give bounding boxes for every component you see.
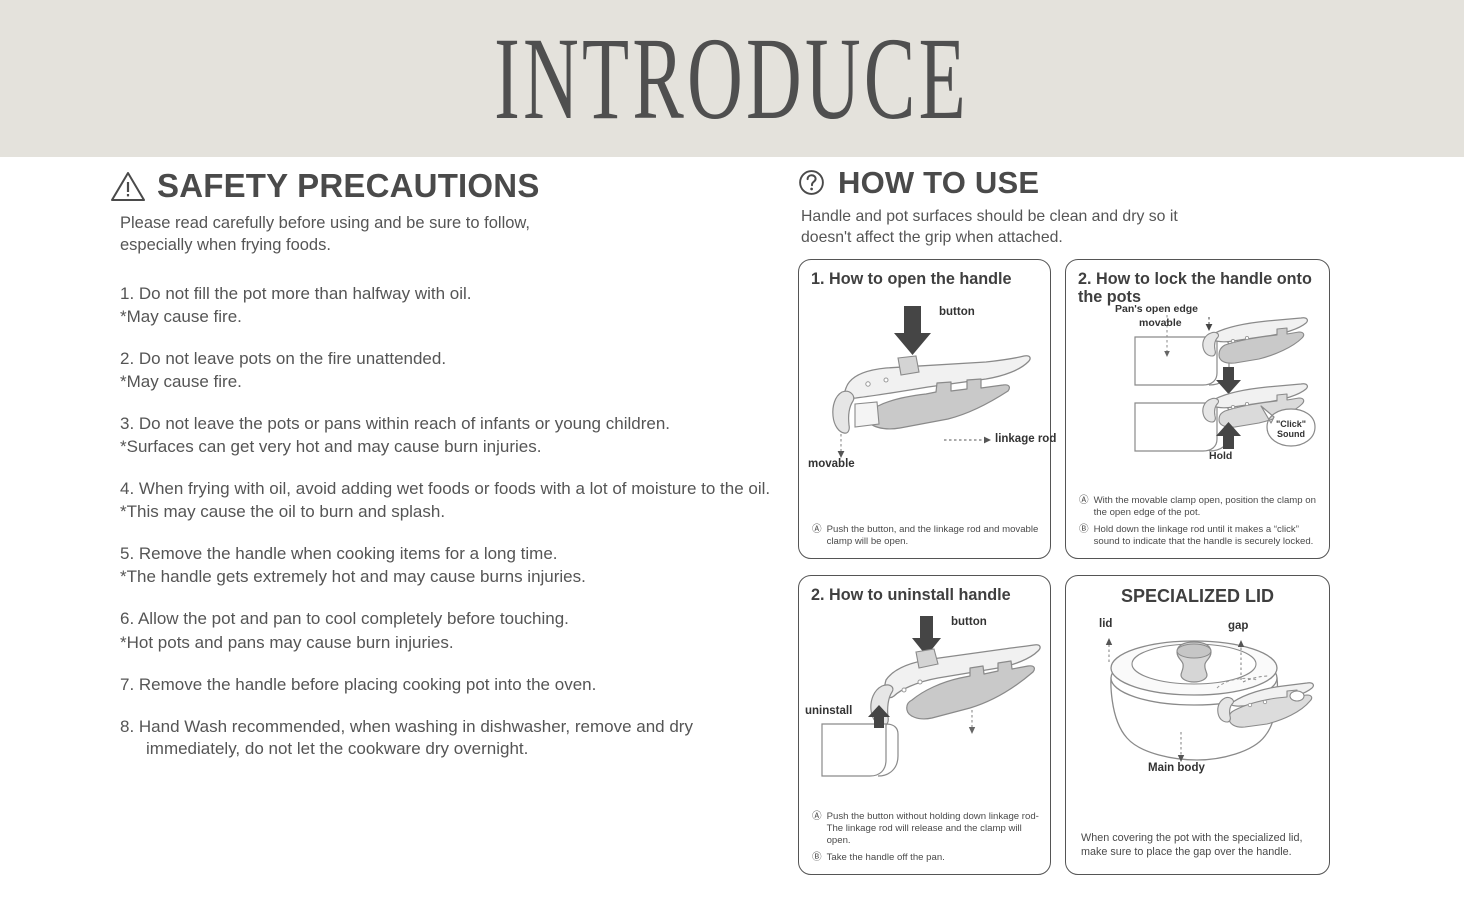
howto-card-grid: 1. How to open the handle bbox=[798, 259, 1464, 875]
howto-intro: Handle and pot surfaces should be clean … bbox=[801, 206, 1464, 249]
specialized-lid-illustration bbox=[1075, 606, 1322, 781]
safety-item-note: *May cause fire. bbox=[120, 371, 790, 393]
card-lock-handle[interactable]: 2. How to lock the handle onto the pots bbox=[1065, 259, 1330, 559]
safety-item: 3. Do not leave the pots or pans within … bbox=[120, 413, 790, 458]
caption-row: Ⓑ Take the handle off the pan. bbox=[812, 852, 1041, 864]
card-open-handle-captions: Ⓐ Push the button, and the linkage rod a… bbox=[812, 524, 1041, 548]
safety-item: 1. Do not fill the pot more than halfway… bbox=[120, 283, 790, 328]
safety-precautions-section: SAFETY PRECAUTIONS Please read carefully… bbox=[0, 157, 790, 900]
caption-row: Ⓑ Hold down the linkage rod until it mak… bbox=[1079, 524, 1320, 548]
card-uninstall-handle-captions: Ⓐ Push the button without holding down l… bbox=[812, 811, 1041, 864]
caption-text: Hold down the linkage rod until it makes… bbox=[1094, 524, 1320, 548]
safety-list: 1. Do not fill the pot more than halfway… bbox=[120, 283, 790, 760]
safety-item-text: 7. Remove the handle before placing cook… bbox=[120, 674, 790, 696]
card-lock-handle-figure: Pan's open edge movable Hold "Click" Sou… bbox=[1075, 307, 1320, 495]
safety-heading-label: SAFETY PRECAUTIONS bbox=[157, 169, 540, 202]
card-open-handle[interactable]: 1. How to open the handle bbox=[798, 259, 1051, 559]
safety-item: 8. Hand Wash recommended, when washing i… bbox=[120, 716, 790, 760]
caption-text: Take the handle off the pan. bbox=[827, 852, 1041, 864]
safety-intro-line1: Please read carefully before using and b… bbox=[120, 214, 530, 232]
caption-text: Push the button, and the linkage rod and… bbox=[827, 524, 1041, 548]
safety-item: 2. Do not leave pots on the fire unatten… bbox=[120, 348, 790, 393]
label-main-body: Main body bbox=[1148, 762, 1205, 774]
card-lock-handle-captions: Ⓐ With the movable clamp open, position … bbox=[1079, 495, 1320, 548]
card-uninstall-handle-title: 2. How to uninstall handle bbox=[811, 586, 1041, 605]
question-circle-icon bbox=[798, 169, 825, 196]
safety-item-note: *Hot pots and pans may cause burn injuri… bbox=[120, 632, 790, 654]
safety-item-text: 1. Do not fill the pot more than halfway… bbox=[120, 283, 790, 305]
safety-item-note: *Surfaces can get very hot and may cause… bbox=[120, 436, 790, 458]
warning-triangle-icon bbox=[110, 170, 146, 202]
label-uninstall: uninstall bbox=[805, 705, 852, 717]
caption-row: Ⓐ With the movable clamp open, position … bbox=[1079, 495, 1320, 519]
howto-heading-row: HOW TO USE bbox=[798, 167, 1464, 198]
safety-item-text: 2. Do not leave pots on the fire unatten… bbox=[120, 348, 790, 370]
caption-mark: Ⓐ bbox=[812, 524, 822, 548]
label-button: button bbox=[951, 616, 987, 628]
card-open-handle-title: 1. How to open the handle bbox=[811, 270, 1041, 289]
caption-mark: Ⓑ bbox=[812, 852, 822, 864]
safety-heading-row: SAFETY PRECAUTIONS bbox=[110, 169, 790, 202]
safety-item-text: 5. Remove the handle when cooking items … bbox=[120, 543, 790, 565]
click-sound-line1: "Click" bbox=[1276, 419, 1306, 429]
caption-row: Ⓐ Push the button without holding down l… bbox=[812, 811, 1041, 847]
caption-row: Ⓐ Push the button, and the linkage rod a… bbox=[812, 524, 1041, 548]
label-lid: lid bbox=[1099, 618, 1112, 630]
caption-mark: Ⓐ bbox=[812, 811, 822, 847]
safety-item: 7. Remove the handle before placing cook… bbox=[120, 674, 790, 696]
safety-item-note: *The handle gets extremely hot and may c… bbox=[120, 566, 790, 588]
label-hold: Hold bbox=[1209, 450, 1232, 462]
label-gap: gap bbox=[1228, 620, 1248, 632]
caption-mark: Ⓑ bbox=[1079, 524, 1089, 548]
click-sound-line2: Sound bbox=[1277, 429, 1305, 439]
how-to-use-section: HOW TO USE Handle and pot surfaces shoul… bbox=[790, 157, 1464, 900]
card-uninstall-handle[interactable]: 2. How to uninstall handle bbox=[798, 575, 1051, 875]
howto-intro-line2: doesn't affect the grip when attached. bbox=[801, 229, 1063, 246]
safety-intro-line2: especially when frying foods. bbox=[120, 236, 331, 254]
safety-item-text: 3. Do not leave the pots or pans within … bbox=[120, 413, 790, 435]
safety-intro: Please read carefully before using and b… bbox=[120, 212, 790, 257]
card-specialized-lid-figure: lid gap Main body bbox=[1075, 606, 1320, 831]
label-button: button bbox=[939, 306, 975, 318]
card-uninstall-handle-figure: button uninstall bbox=[808, 604, 1041, 810]
label-click-sound: "Click" Sound bbox=[1276, 419, 1306, 440]
card-specialized-lid-note: When covering the pot with the specializ… bbox=[1081, 831, 1320, 860]
safety-item: 4. When frying with oil, avoid adding we… bbox=[120, 478, 790, 523]
card-specialized-lid-title: SPECIALIZED LID bbox=[1075, 586, 1320, 607]
label-movable: movable bbox=[808, 458, 855, 470]
card-open-handle-figure: button movable linkage rod bbox=[808, 288, 1041, 523]
card-specialized-lid[interactable]: SPECIALIZED LID bbox=[1065, 575, 1330, 875]
label-linkage-rod: linkage rod bbox=[995, 433, 1056, 445]
howto-intro-line1: Handle and pot surfaces should be clean … bbox=[801, 208, 1178, 225]
page-title: INTRODUCE bbox=[495, 20, 970, 138]
safety-item-note: *This may cause the oil to burn and spla… bbox=[120, 501, 790, 523]
howto-heading-label: HOW TO USE bbox=[838, 167, 1039, 198]
caption-text: With the movable clamp open, position th… bbox=[1094, 495, 1320, 519]
caption-text: Push the button without holding down lin… bbox=[827, 811, 1041, 847]
safety-item-note: *May cause fire. bbox=[120, 306, 790, 328]
handle-uninstall-illustration bbox=[808, 604, 1043, 784]
safety-item-text: 6. Allow the pot and pan to cool complet… bbox=[120, 608, 790, 630]
safety-item: 5. Remove the handle when cooking items … bbox=[120, 543, 790, 588]
button-down-arrow-icon bbox=[894, 306, 931, 355]
safety-item-text: 4. When frying with oil, avoid adding we… bbox=[120, 478, 790, 500]
caption-mark: Ⓐ bbox=[1079, 495, 1089, 519]
card-lock-handle-title: 2. How to lock the handle onto the pots bbox=[1078, 270, 1320, 307]
label-pans-open-edge: Pan's open edge bbox=[1115, 303, 1198, 315]
label-movable: movable bbox=[1139, 317, 1182, 329]
page-content: SAFETY PRECAUTIONS Please read carefully… bbox=[0, 157, 1464, 900]
safety-item: 6. Allow the pot and pan to cool complet… bbox=[120, 608, 790, 653]
page-header: INTRODUCE bbox=[0, 0, 1464, 157]
safety-item-text: 8. Hand Wash recommended, when washing i… bbox=[120, 716, 790, 760]
